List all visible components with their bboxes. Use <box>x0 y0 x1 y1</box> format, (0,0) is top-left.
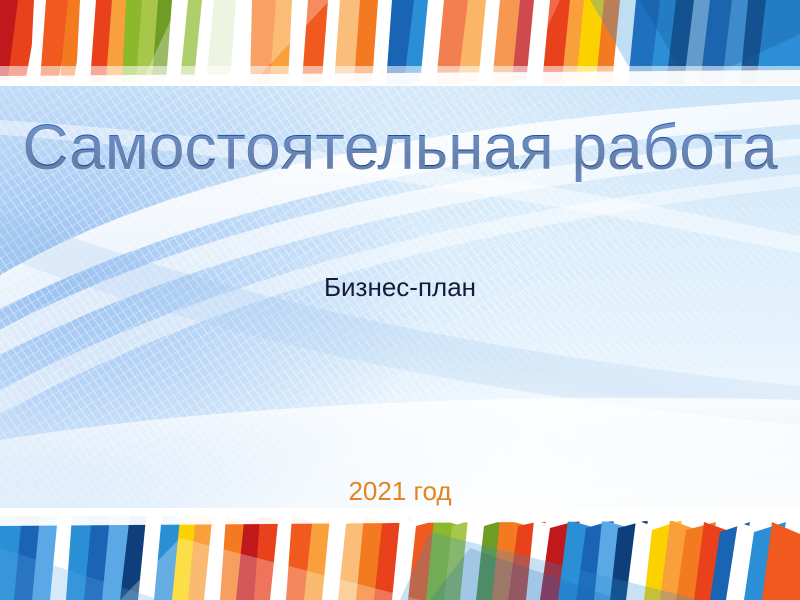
decorative-band-top <box>0 0 800 86</box>
decorative-band-bottom <box>0 508 800 600</box>
slide-year: 2021 год <box>0 476 800 506</box>
slide-title: Самостоятельная работа <box>0 112 800 182</box>
geometric-shards-top-icon <box>0 0 800 86</box>
slide-subtitle: Бизнес-план <box>0 272 800 302</box>
geometric-shards-bottom-icon <box>0 508 800 600</box>
presentation-slide: Самостоятельная работа Бизнес-план 2021 … <box>0 0 800 600</box>
